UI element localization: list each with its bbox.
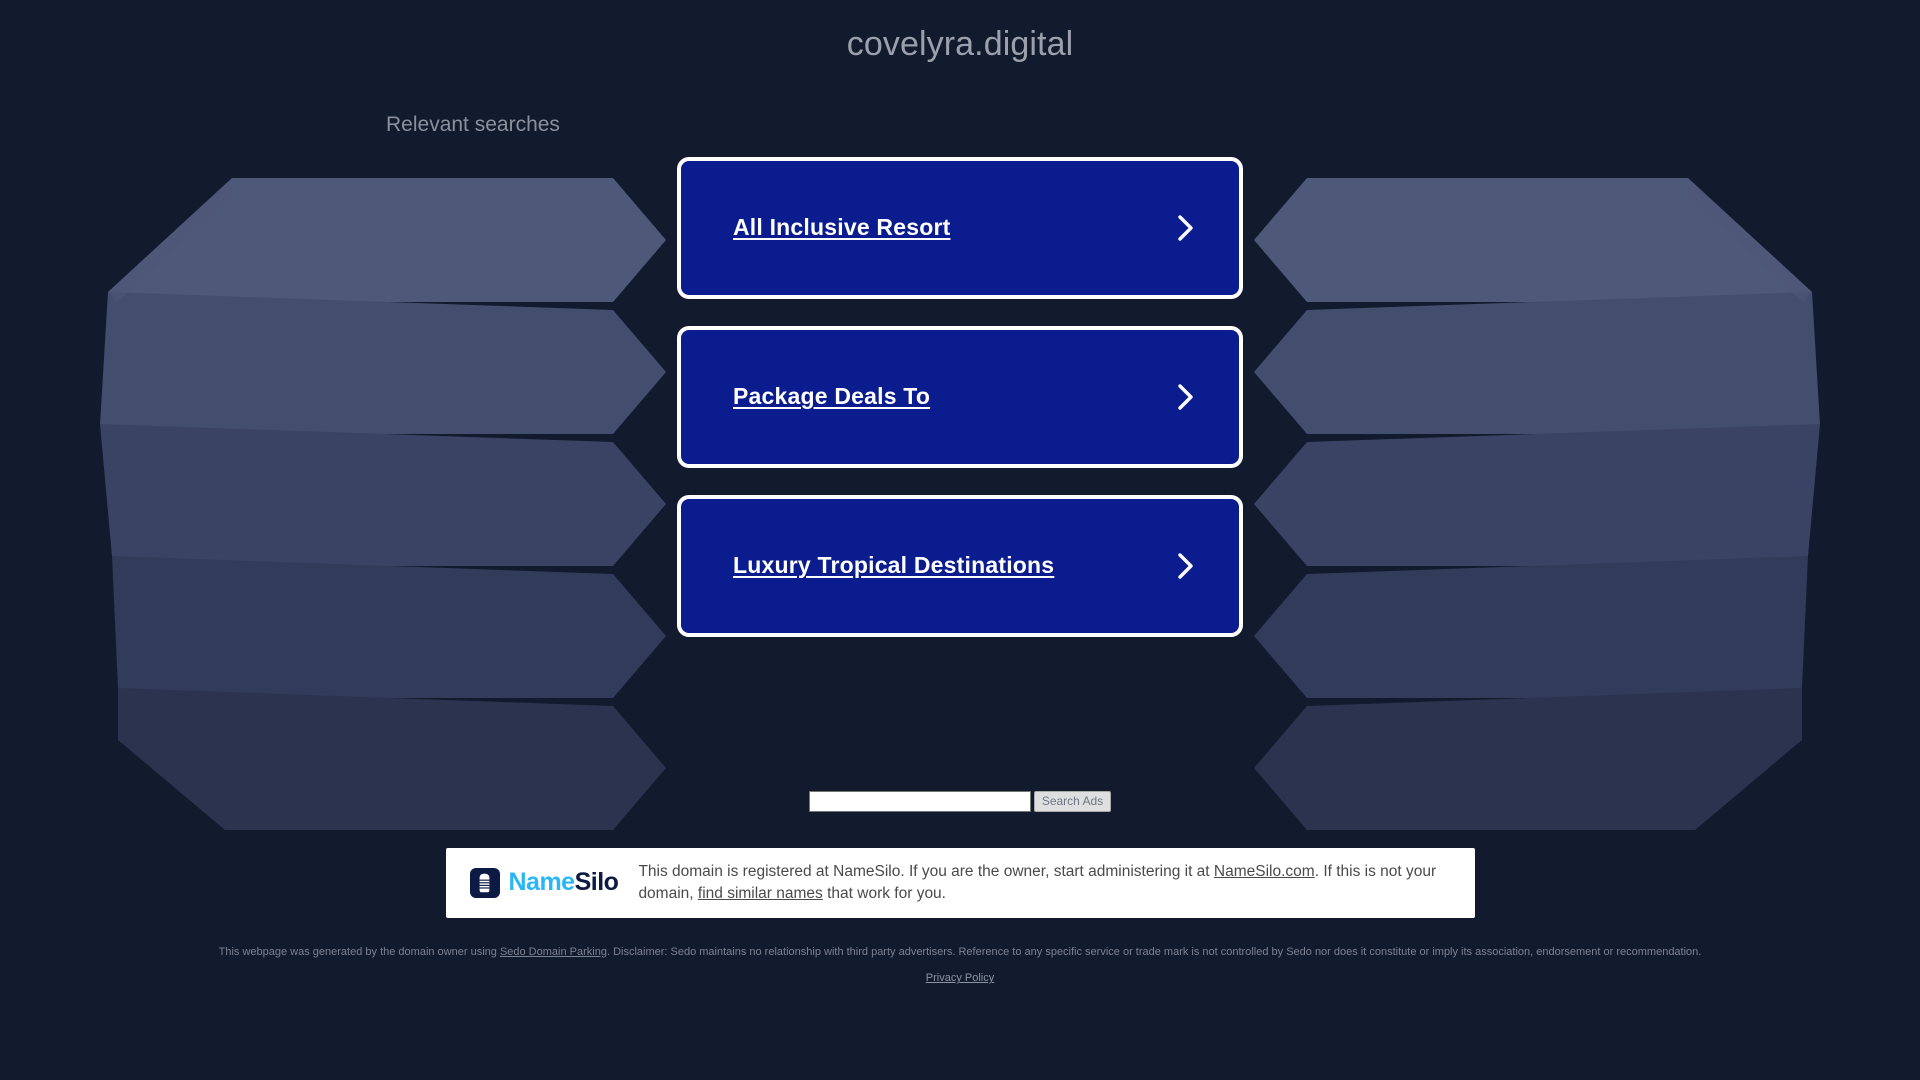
search-ads-form: Search Ads [0,791,1920,812]
related-link-card-3[interactable]: Luxury Tropical Destinations [677,495,1243,637]
namesilo-silo-icon [470,868,500,898]
disclaimer-text-2: . Disclaimer: Sedo maintains no relation… [607,946,1701,958]
chevron-right-icon [1175,549,1197,583]
privacy-policy-link[interactable]: Privacy Policy [926,972,994,984]
find-similar-names-link[interactable]: find similar names [698,885,823,902]
namesilo-banner: NameSilo This domain is registered at Na… [446,848,1475,918]
namesilo-wordmark: NameSilo [509,870,619,895]
search-input[interactable] [809,791,1031,812]
related-link-label[interactable]: Luxury Tropical Destinations [733,552,1054,579]
related-links-list: All Inclusive Resort Package Deals To Lu… [677,157,1243,637]
chevron-right-icon [1175,380,1197,414]
search-ads-button[interactable]: Search Ads [1034,791,1111,812]
namesilo-wordmark-name: Name [509,868,575,896]
relevant-searches-section: Relevant searches [0,113,1920,137]
namesilo-wordmark-silo: Silo [575,868,619,896]
namesilo-logo: NameSilo [470,868,619,898]
disclaimer-text-1: This webpage was generated by the domain… [219,946,500,958]
related-link-card-1[interactable]: All Inclusive Resort [677,157,1243,299]
footer-privacy: Privacy Policy [0,972,1920,984]
namesilo-com-link[interactable]: NameSilo.com [1214,863,1315,880]
chevron-right-icon [1175,211,1197,245]
parked-domain-page: covelyra.digital Relevant searches All I… [0,0,1920,1080]
background-bands-left [100,178,666,830]
namesilo-text-1: This domain is registered at NameSilo. I… [638,863,1213,880]
related-link-label[interactable]: All Inclusive Resort [733,214,950,241]
sedo-domain-parking-link[interactable]: Sedo Domain Parking [500,946,607,958]
related-link-label[interactable]: Package Deals To [733,383,930,410]
namesilo-text-3: that work for you. [823,885,946,902]
namesilo-message: This domain is registered at NameSilo. I… [634,861,1456,905]
page-title: covelyra.digital [0,0,1920,65]
related-link-card-2[interactable]: Package Deals To [677,326,1243,468]
footer-disclaimer: This webpage was generated by the domain… [0,944,1920,961]
background-bands-right [1254,178,1820,830]
relevant-searches-heading: Relevant searches [386,113,1534,137]
